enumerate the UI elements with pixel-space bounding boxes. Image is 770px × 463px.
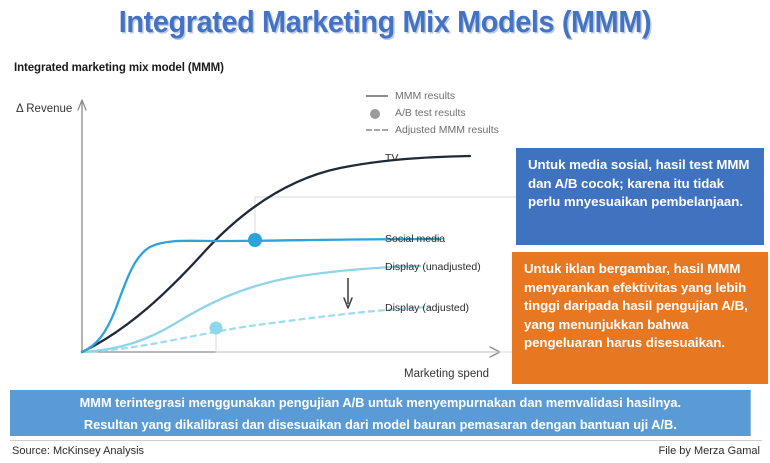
x-axis-label: Marketing spend <box>404 368 489 380</box>
solid-line-icon <box>366 90 388 102</box>
footer-source: Source: McKinsey Analysis <box>12 445 144 457</box>
dashed-line-icon <box>366 124 388 136</box>
curve-label-social-media: Social media <box>385 233 445 245</box>
callout-box-social-media: Untuk media sosial, hasil test MMM dan A… <box>516 148 764 245</box>
chart-legend: MMM results A/B test results Adjusted MM… <box>366 88 499 139</box>
leader-line-display-callout <box>216 328 520 352</box>
legend-label: Adjusted MMM results <box>395 124 499 136</box>
footer-divider <box>10 440 762 441</box>
curve-label-display-unadjusted: Display (unadjusted) <box>385 261 481 273</box>
ab-test-point-social[interactable] <box>248 233 262 247</box>
curve-label-display-adjusted: Display (adjusted) <box>385 302 469 314</box>
legend-item-mmm-results: MMM results <box>366 88 499 103</box>
summary-banner: MMM terintegrasi menggunakan pengujian A… <box>10 390 751 436</box>
banner-line-1: MMM terintegrasi menggunakan pengujian A… <box>10 392 751 414</box>
footer-credit: File by Merza Gamal <box>659 445 760 457</box>
page-title: Integrated Marketing Mix Models (MMM) <box>27 4 743 40</box>
legend-label: A/B test results <box>395 107 466 119</box>
banner-line-2: Resultan yang dikalibrasi dan disesuaika… <box>10 414 751 436</box>
filled-circle-icon <box>366 107 388 119</box>
curve-social-media <box>82 239 440 352</box>
legend-label: MMM results <box>395 90 455 102</box>
adjustment-down-arrow <box>344 278 352 308</box>
ab-test-point-display[interactable] <box>210 322 223 335</box>
curve-label-tv: TV <box>385 152 398 164</box>
y-axis-label: Δ Revenue <box>16 103 72 115</box>
curve-display-unadjusted <box>82 266 420 352</box>
chart-subtitle: Integrated marketing mix model (MMM) <box>14 62 224 74</box>
callout-box-display: Untuk iklan bergambar, hasil MMM menyara… <box>512 252 768 384</box>
curve-display-adjusted <box>82 307 430 352</box>
legend-item-ab-test-results: A/B test results <box>366 105 499 120</box>
legend-item-adjusted-mmm-results: Adjusted MMM results <box>366 122 499 137</box>
